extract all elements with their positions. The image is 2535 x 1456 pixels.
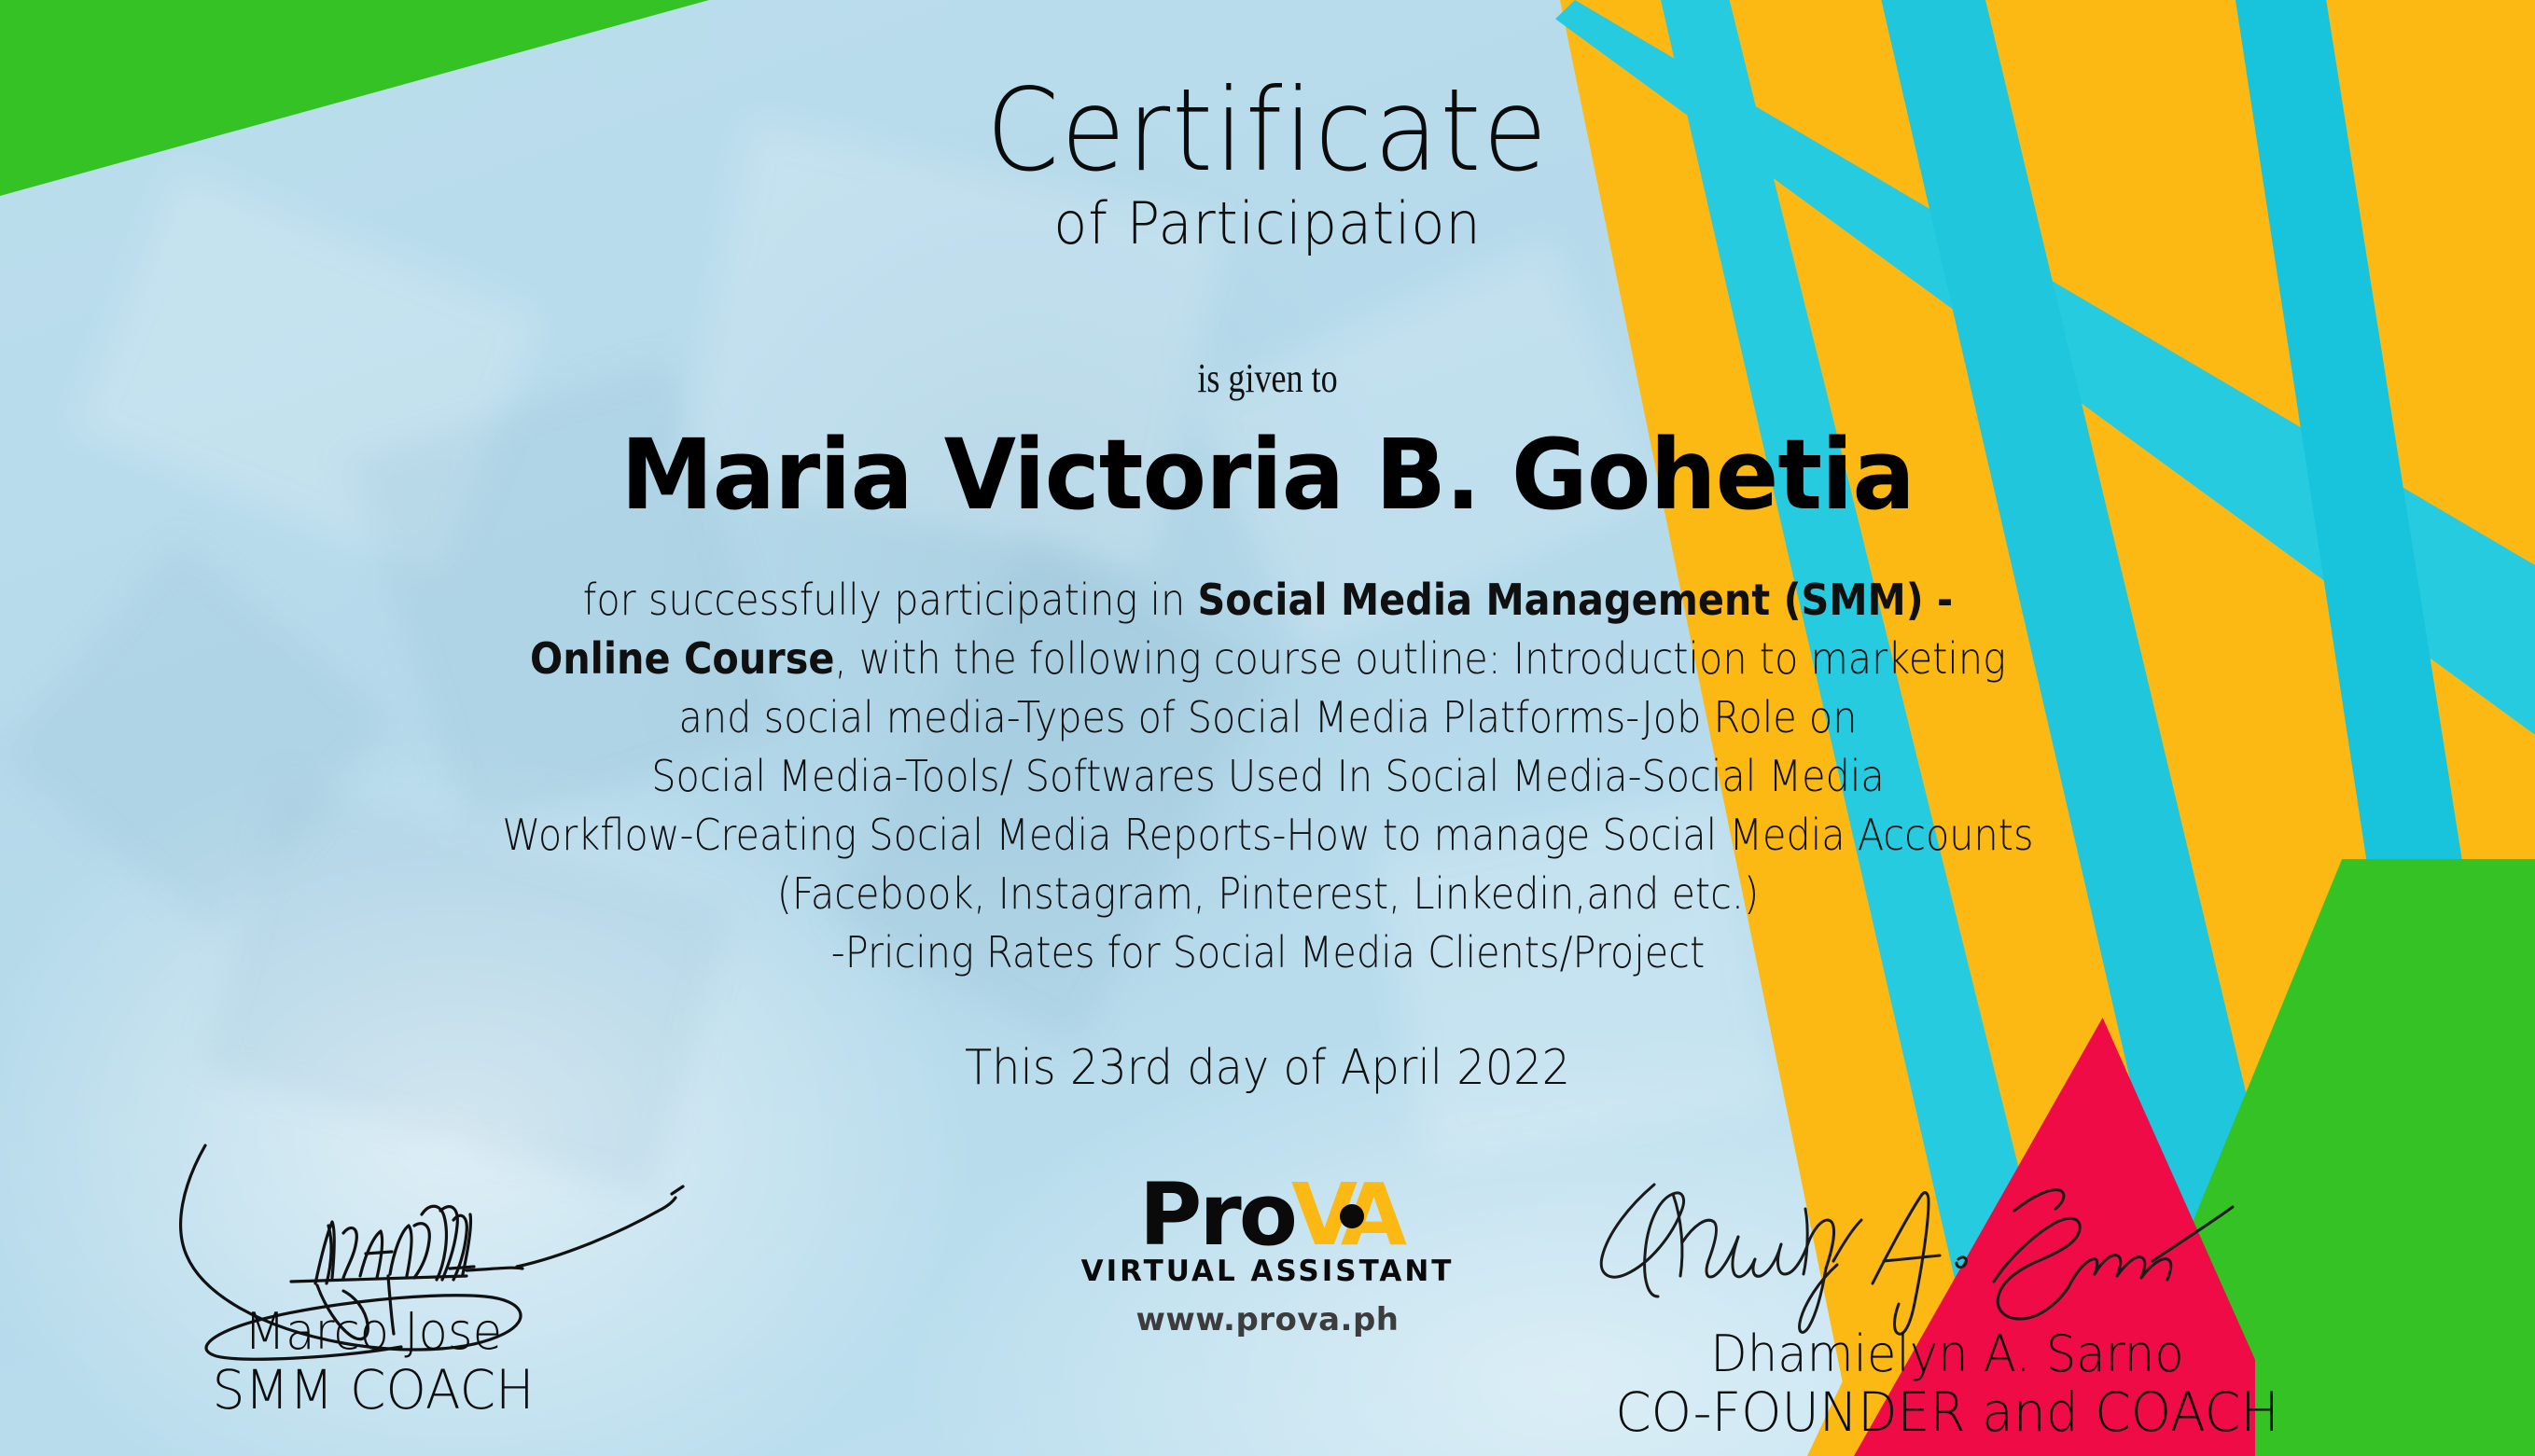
body-text-run: Workflow-Creating Social Media Reports-H… xyxy=(502,810,2033,860)
certificate-date: This 23rd day of April 2022 xyxy=(102,1040,2434,1096)
body-text-run: (Facebook, Instagram, Pinterest, Linkedi… xyxy=(776,868,1758,919)
body-text-run: -Pricing Rates for Social Media Clients/… xyxy=(830,927,1704,978)
body-text-run: Social Media-Tools/ Softwares Used In So… xyxy=(651,751,1885,801)
body-text-emphasis: Online Course xyxy=(529,633,833,684)
certificate-canvas: Certificate of Participation is given to… xyxy=(0,0,2535,1456)
logo-text-pro: Pro xyxy=(1139,1172,1295,1258)
logo-website-url[interactable]: www.prova.ph xyxy=(1072,1301,1464,1338)
certificate-title-block: Certificate of Participation xyxy=(0,73,2535,257)
signature-block-right: Dhamielyn A. Sarno CO-FOUNDER and COACH xyxy=(1537,1203,2358,1443)
given-to-label: is given to xyxy=(229,354,2307,402)
recipient-name: Maria Victoria B. Gohetia xyxy=(50,418,2484,532)
signature-role: SMM COACH xyxy=(54,1360,692,1421)
body-text-run: , with the following course outline: Int… xyxy=(834,633,2006,684)
body-text-line: Workflow-Creating Social Media Reports-H… xyxy=(403,806,2133,865)
certificate-body-text: for successfully participating in Social… xyxy=(403,571,2133,982)
signature-role: CO-FOUNDER and COACH xyxy=(1557,1382,2337,1443)
body-text-line: -Pricing Rates for Social Media Clients/… xyxy=(403,923,2133,982)
body-text-line: (Facebook, Instagram, Pinterest, Linkedi… xyxy=(403,865,2133,923)
body-text-line: for successfully participating in Social… xyxy=(403,571,2133,630)
certificate-title: Certificate xyxy=(102,73,2434,188)
logo-dot-icon xyxy=(1340,1204,1364,1228)
body-text-emphasis: Social Media Management (SMM) - xyxy=(1197,575,1953,625)
signature-name: Marco Jose xyxy=(54,1304,692,1360)
prova-wordmark: Pro VA xyxy=(1072,1171,1464,1260)
handwritten-signature-icon xyxy=(1593,1172,2246,1349)
certificate-subtitle: of Participation xyxy=(63,190,2472,257)
body-text-line: and social media-Types of Social Media P… xyxy=(403,688,2133,747)
signature-name: Dhamielyn A. Sarno xyxy=(1557,1326,2337,1382)
logo-text-va: VA xyxy=(1291,1172,1396,1258)
prova-logo: Pro VA VIRTUAL ASSISTANT www.prova.ph xyxy=(1072,1171,1464,1338)
body-text-line: Social Media-Tools/ Softwares Used In So… xyxy=(403,747,2133,806)
signature-block-left: Marco Jose SMM COACH xyxy=(37,1147,709,1421)
body-text-run: and social media-Types of Social Media P… xyxy=(678,692,1857,742)
body-text-line: Online Course, with the following course… xyxy=(403,630,2133,688)
body-text-run: for successfully participating in xyxy=(582,575,1197,625)
